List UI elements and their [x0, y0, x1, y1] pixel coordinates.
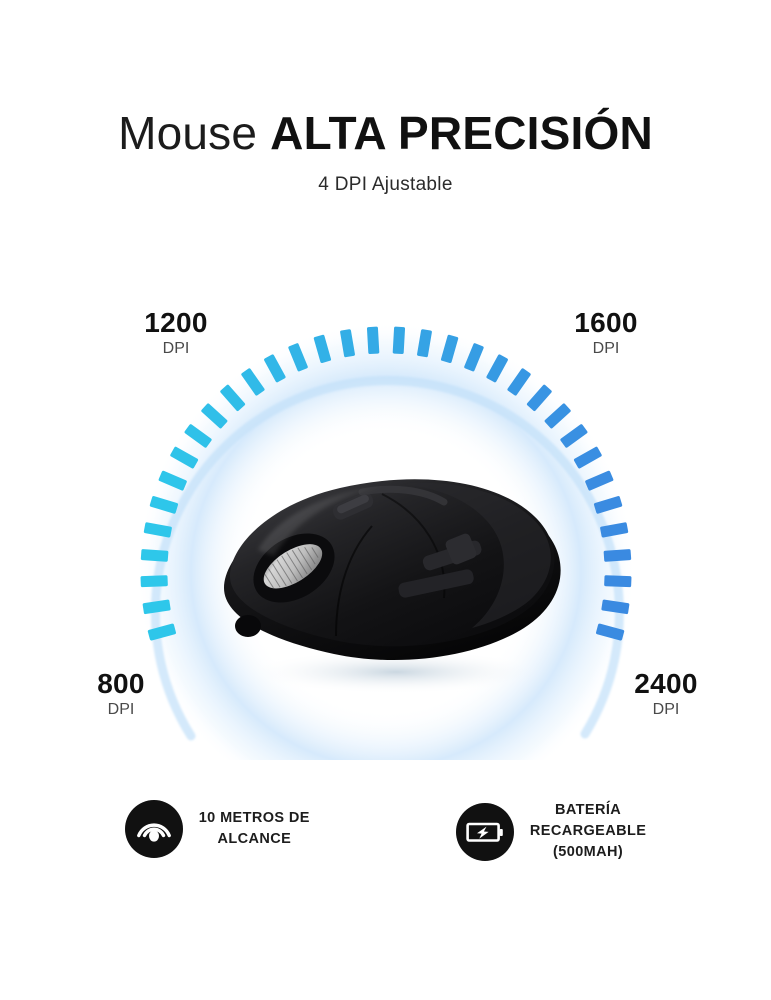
title-light-part: Mouse	[118, 107, 270, 159]
page-subtitle: 4 DPI Ajustable	[0, 174, 771, 196]
header: Mouse ALTA PRECISIÓN 4 DPI Ajustable	[0, 0, 771, 196]
arc-dash	[604, 549, 632, 562]
arc-dash	[393, 327, 405, 355]
dpi-unit: DPI	[601, 700, 731, 720]
page-title: Mouse ALTA PRECISIÓN	[0, 104, 771, 162]
dpi-label-1200: 1200 DPI	[111, 308, 241, 359]
arc-dash	[141, 549, 169, 562]
dpi-unit: DPI	[56, 700, 186, 720]
dpi-dial-hero: 1200 DPI 1600 DPI 800 DPI 2400 DPI	[0, 250, 771, 760]
feature-list: 10 METROS DE ALCANCE BATERÍA RECARGEABLE…	[0, 800, 771, 920]
arc-dash	[604, 575, 631, 587]
wireless-signal-icon	[125, 800, 183, 858]
feature-item-battery: BATERÍA RECARGEABLE (500MAH)	[456, 800, 646, 863]
dpi-value: 2400	[601, 669, 731, 699]
feature-item-range: 10 METROS DE ALCANCE	[125, 800, 310, 858]
dpi-unit: DPI	[541, 339, 671, 359]
charging-port	[235, 615, 261, 637]
mouse-product-image	[186, 440, 586, 700]
arc-dash	[367, 327, 379, 355]
battery-charging-icon	[456, 803, 514, 861]
dpi-label-1600: 1600 DPI	[541, 308, 671, 359]
title-bold-part: ALTA PRECISIÓN	[270, 107, 653, 159]
arc-dash	[140, 575, 167, 587]
dpi-value: 800	[56, 669, 186, 699]
dpi-label-2400: 2400 DPI	[601, 669, 731, 720]
feature-label: BATERÍA RECARGEABLE (500MAH)	[530, 800, 646, 863]
dpi-unit: DPI	[111, 339, 241, 359]
dpi-value: 1600	[541, 308, 671, 338]
dpi-label-800: 800 DPI	[56, 669, 186, 720]
dpi-value: 1200	[111, 308, 241, 338]
feature-label: 10 METROS DE ALCANCE	[199, 808, 310, 850]
